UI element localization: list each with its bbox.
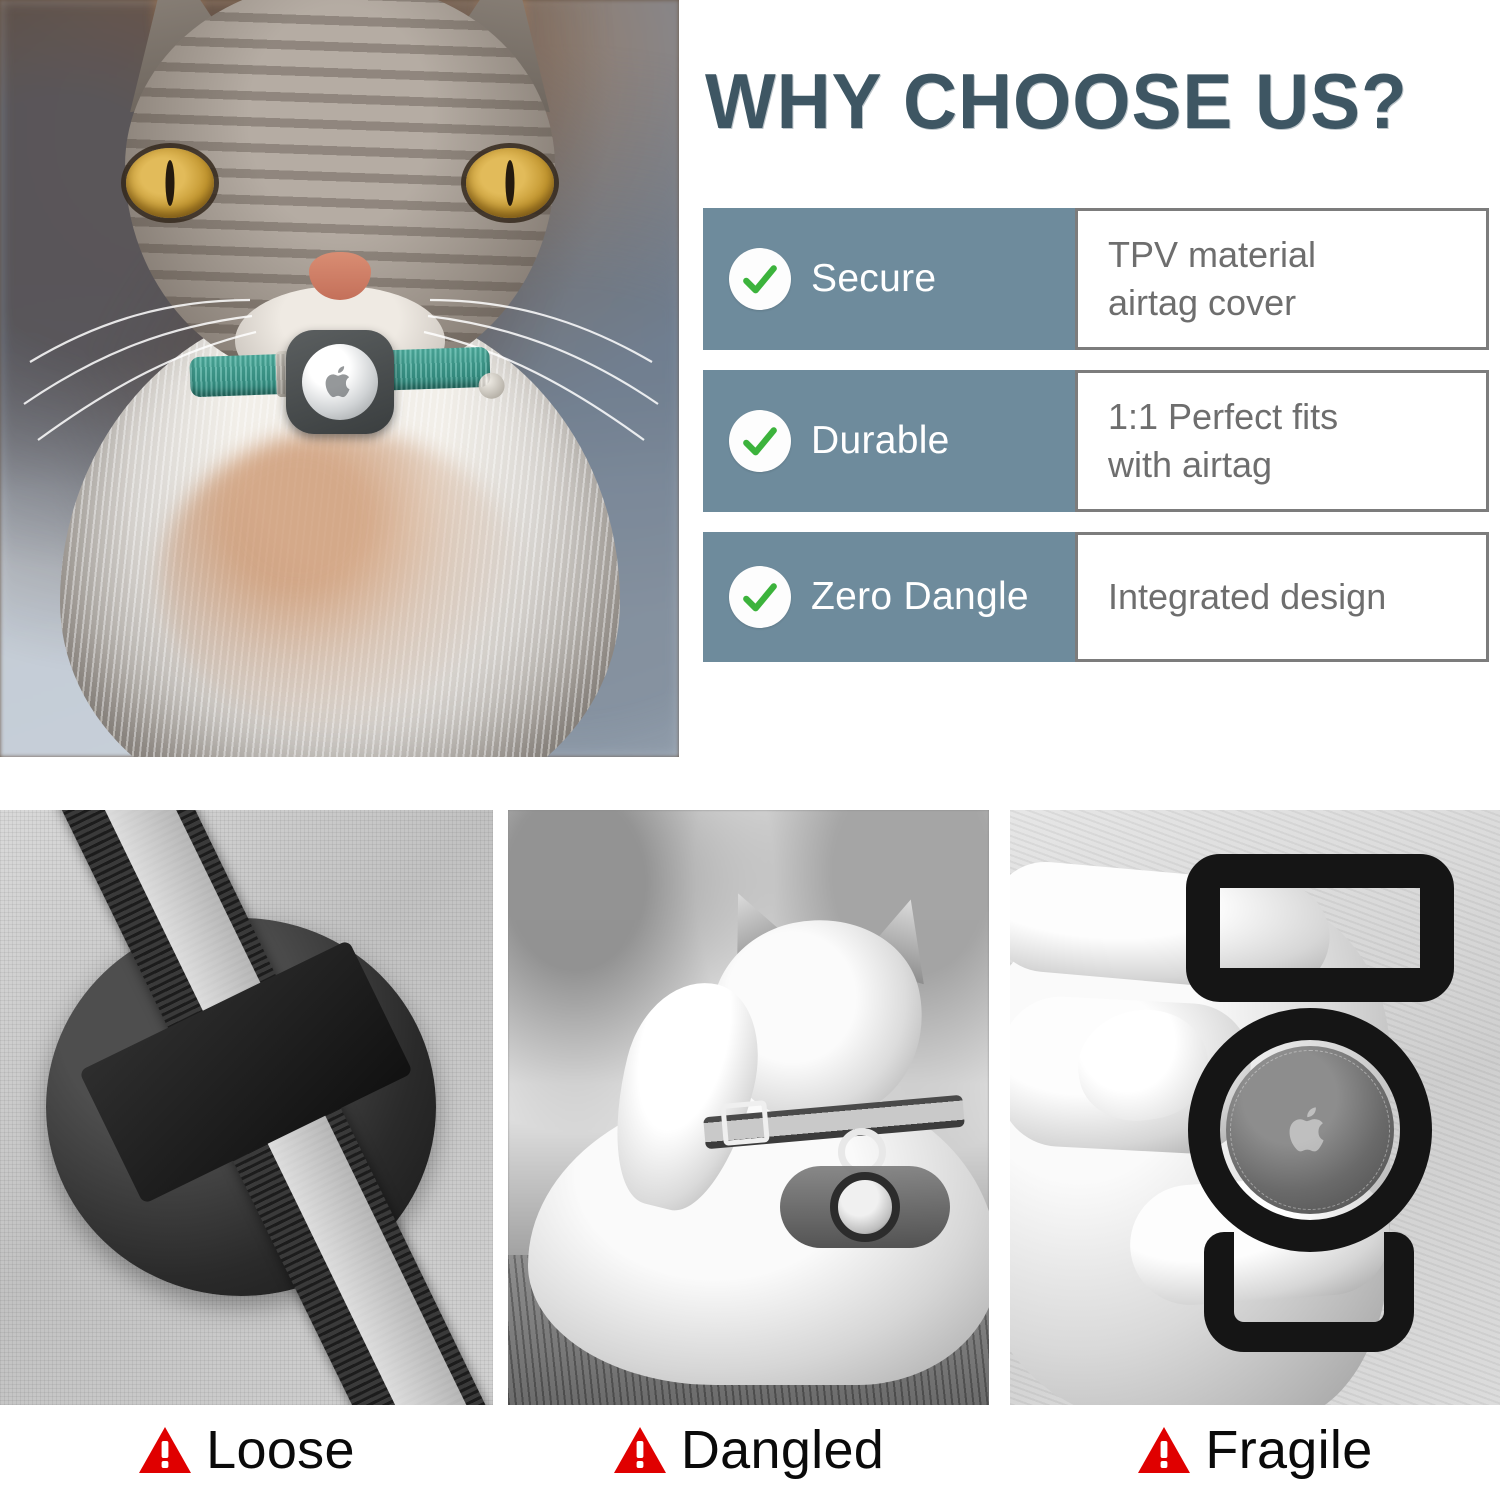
check-circle-icon xyxy=(729,566,791,628)
feature-row: Secure TPV material airtag cover xyxy=(703,208,1489,350)
airtag-disc xyxy=(830,1172,900,1242)
cat-pupil-right xyxy=(505,160,514,206)
holder-lower-loop xyxy=(1204,1232,1414,1352)
caption-label: Fragile xyxy=(1205,1419,1372,1481)
cat-ginger-patch xyxy=(160,430,520,730)
feature-label: Zero Dangle xyxy=(811,575,1029,619)
check-circle-icon xyxy=(729,248,791,310)
comparison-photo-loose xyxy=(0,810,493,1405)
caption-fragile: Fragile xyxy=(1010,1408,1500,1492)
airtag-disc xyxy=(1226,1046,1394,1214)
check-circle-icon xyxy=(729,410,791,472)
feature-label: Secure xyxy=(811,257,936,301)
holder-strap-loop xyxy=(1186,854,1454,1002)
feature-detail-cell: Integrated design xyxy=(1075,532,1489,662)
collar-bell xyxy=(478,372,505,399)
feature-detail-line: Integrated design xyxy=(1108,573,1486,621)
feature-row: Zero Dangle Integrated design xyxy=(703,532,1489,662)
cat-eye-right xyxy=(466,148,554,218)
dangling-airtag-holder xyxy=(780,1166,950,1248)
feature-label: Durable xyxy=(811,419,950,463)
comparison-photo-dangled xyxy=(508,810,989,1405)
cat-eye-left xyxy=(126,148,214,218)
cat-illustration xyxy=(20,0,660,757)
cat-pupil-left xyxy=(165,160,174,206)
page-title: WHY CHOOSE US? xyxy=(705,62,1463,142)
warning-triangle-icon xyxy=(1137,1425,1191,1475)
caption-label: Loose xyxy=(206,1419,355,1481)
caption-label: Dangled xyxy=(681,1419,884,1481)
product-infographic: WHY CHOOSE US? Secure TPV material airta… xyxy=(0,0,1500,1492)
feature-detail-cell: TPV material airtag cover xyxy=(1075,208,1489,350)
feature-detail-line: with airtag xyxy=(1108,441,1486,489)
feature-table: Secure TPV material airtag cover Durable xyxy=(703,208,1489,662)
feature-label-cell: Zero Dangle xyxy=(703,532,1075,662)
warning-triangle-icon xyxy=(138,1425,192,1475)
caption-loose: Loose xyxy=(0,1408,493,1492)
feature-detail-cell: 1:1 Perfect fits with airtag xyxy=(1075,370,1489,512)
feature-detail-line: airtag cover xyxy=(1108,279,1486,327)
apple-logo-icon xyxy=(1286,1103,1334,1157)
feature-label-cell: Durable xyxy=(703,370,1075,512)
warning-triangle-icon xyxy=(613,1425,667,1475)
airtag-disc xyxy=(302,344,378,420)
why-choose-us-panel: WHY CHOOSE US? Secure TPV material airta… xyxy=(700,0,1500,757)
silicone-airtag-holder xyxy=(1170,840,1460,1360)
caption-dangled: Dangled xyxy=(508,1408,989,1492)
comparison-captions: Loose Dangled Fragile xyxy=(0,1408,1500,1492)
hero-cat-photo xyxy=(0,0,679,757)
checkmark-icon xyxy=(740,421,780,461)
feature-row: Durable 1:1 Perfect fits with airtag xyxy=(703,370,1489,512)
feature-detail-line: TPV material xyxy=(1108,231,1486,279)
checkmark-icon xyxy=(740,259,780,299)
airtag-holder-integrated xyxy=(286,330,394,434)
comparison-photo-strip xyxy=(0,810,1500,1405)
feature-label-cell: Secure xyxy=(703,208,1075,350)
checkmark-icon xyxy=(740,577,780,617)
collar-buckle xyxy=(720,1100,769,1146)
apple-logo-icon xyxy=(323,363,357,401)
comparison-photo-fragile xyxy=(1010,810,1500,1405)
feature-detail-line: 1:1 Perfect fits xyxy=(1108,393,1486,441)
